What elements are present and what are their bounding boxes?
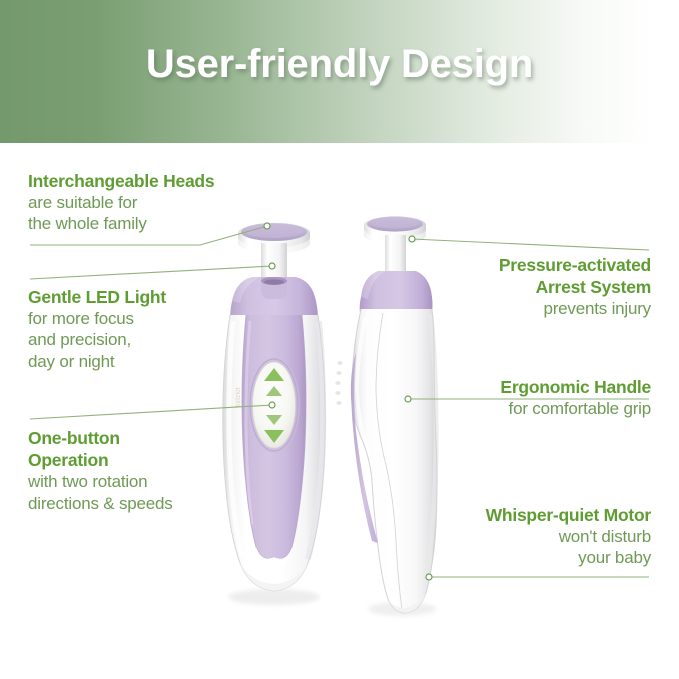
callout-body-line: won't disturb: [371, 526, 651, 547]
callout-heading: Ergonomic Handle: [371, 376, 651, 398]
svg-text:kidzkit: kidzkit: [235, 387, 242, 407]
callout-heading-line: Arrest System: [371, 276, 651, 298]
brand-mark-front: kidzkit: [235, 387, 242, 407]
callout-heading: Whisper-quiet Motor: [371, 504, 651, 526]
callout-heading-line: Pressure-activated: [371, 254, 651, 276]
callout-one-button-operation: One-button Operation with two rotation d…: [28, 427, 268, 514]
callout-body-line: the whole family: [28, 213, 268, 234]
callout-heading-line: Operation: [28, 449, 268, 471]
callout-heading-line: One-button: [28, 427, 268, 449]
page-title: User-friendly Design: [0, 42, 679, 87]
callout-body-line: are suitable for: [28, 192, 268, 213]
product-front-view: kidzkit: [223, 223, 325, 606]
callout-body-line: for comfortable grip: [371, 398, 651, 419]
callout-body-line: and precision,: [28, 329, 268, 350]
callout-pressure-activated-arrest-system: Pressure-activated Arrest System prevent…: [371, 254, 651, 320]
callout-body-line: for more focus: [28, 308, 268, 329]
callout-whisper-quiet-motor: Whisper-quiet Motor won't disturb your b…: [371, 504, 651, 569]
callout-body-line: day or night: [28, 351, 268, 372]
callout-body-line: with two rotation: [28, 471, 268, 492]
infographic-page: User-friendly Design: [0, 0, 679, 679]
callout-heading: Gentle LED Light: [28, 286, 268, 308]
callout-body-line: directions & speeds: [28, 493, 268, 514]
callout-heading: Interchangeable Heads: [28, 170, 268, 192]
grip-ridges-side: [335, 361, 342, 405]
callout-body-line: prevents injury: [371, 298, 651, 319]
callout-gentle-led-light: Gentle LED Light for more focus and prec…: [28, 286, 268, 372]
header-banner: User-friendly Design: [0, 0, 679, 143]
callout-interchangeable-heads: Interchangeable Heads are suitable for t…: [28, 170, 268, 235]
callout-ergonomic-handle: Ergonomic Handle for comfortable grip: [371, 376, 651, 419]
callout-body-line: your baby: [371, 547, 651, 568]
